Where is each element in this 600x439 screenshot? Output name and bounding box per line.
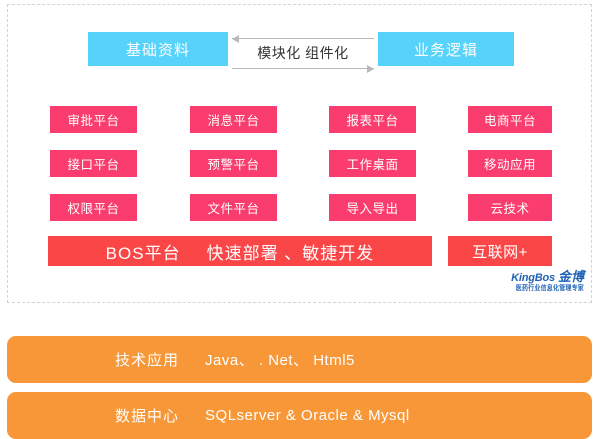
business-logic-box[interactable]: 业务逻辑 xyxy=(378,32,514,66)
bos-platform-label: BOS平台 xyxy=(106,239,181,264)
module-box[interactable]: 文件平台 xyxy=(190,194,277,221)
kingbos-wordmark-latin: KingBos xyxy=(511,272,555,284)
arrow-left-icon xyxy=(232,35,239,43)
module-box[interactable]: 接口平台 xyxy=(50,150,137,177)
kingbos-wordmark-cn: 金博 xyxy=(558,269,584,284)
module-box[interactable]: 预警平台 xyxy=(190,150,277,177)
module-box[interactable]: 权限平台 xyxy=(50,194,137,221)
basic-data-box[interactable]: 基础资料 xyxy=(88,32,228,66)
technology-layer-label: 技术应用 xyxy=(115,349,179,370)
module-box[interactable]: 报表平台 xyxy=(329,106,416,133)
top-flow-row: 基础资料 模块化 组件化 业务逻辑 xyxy=(0,32,600,74)
module-box[interactable]: 云技术 xyxy=(468,194,552,221)
module-box[interactable]: 消息平台 xyxy=(190,106,277,133)
arrow-line-rightward xyxy=(232,68,374,69)
arrow-label: 模块化 组件化 xyxy=(232,43,374,63)
technology-layer-value: Java、 . Net、 Html5 xyxy=(205,349,355,370)
data-center-layer-label: 数据中心 xyxy=(115,405,179,426)
arrow-right-icon xyxy=(367,65,374,73)
bos-platform-row: BOS平台 快速部署 、敏捷开发 互联网+ xyxy=(0,236,600,266)
kingbos-tagline: 医药行业信息化管理专家 xyxy=(488,286,584,293)
module-box[interactable]: 电商平台 xyxy=(468,106,552,133)
module-box[interactable]: 工作桌面 xyxy=(329,150,416,177)
internet-plus-bar[interactable]: 互联网+ xyxy=(448,236,552,266)
module-box[interactable]: 移动应用 xyxy=(468,150,552,177)
bidirectional-arrow-group: 模块化 组件化 xyxy=(232,32,374,74)
arrow-line-leftward xyxy=(232,38,374,39)
bos-platform-desc: 快速部署 、敏捷开发 xyxy=(207,239,375,264)
data-center-layer-bar[interactable]: 数据中心 SQLserver & Oracle & Mysql xyxy=(7,392,592,439)
bos-platform-bar[interactable]: BOS平台 快速部署 、敏捷开发 xyxy=(48,236,432,266)
kingbos-logo: KingBos金博 医药行业信息化管理专家 xyxy=(488,270,584,292)
kingbos-wordmark: KingBos金博 xyxy=(488,270,584,284)
module-box[interactable]: 审批平台 xyxy=(50,106,137,133)
modules-grid: 审批平台 消息平台 报表平台 电商平台 接口平台 预警平台 工作桌面 移动应用 … xyxy=(0,106,600,222)
module-box[interactable]: 导入导出 xyxy=(329,194,416,221)
data-center-layer-value: SQLserver & Oracle & Mysql xyxy=(205,407,410,424)
technology-layer-bar[interactable]: 技术应用 Java、 . Net、 Html5 xyxy=(7,336,592,383)
